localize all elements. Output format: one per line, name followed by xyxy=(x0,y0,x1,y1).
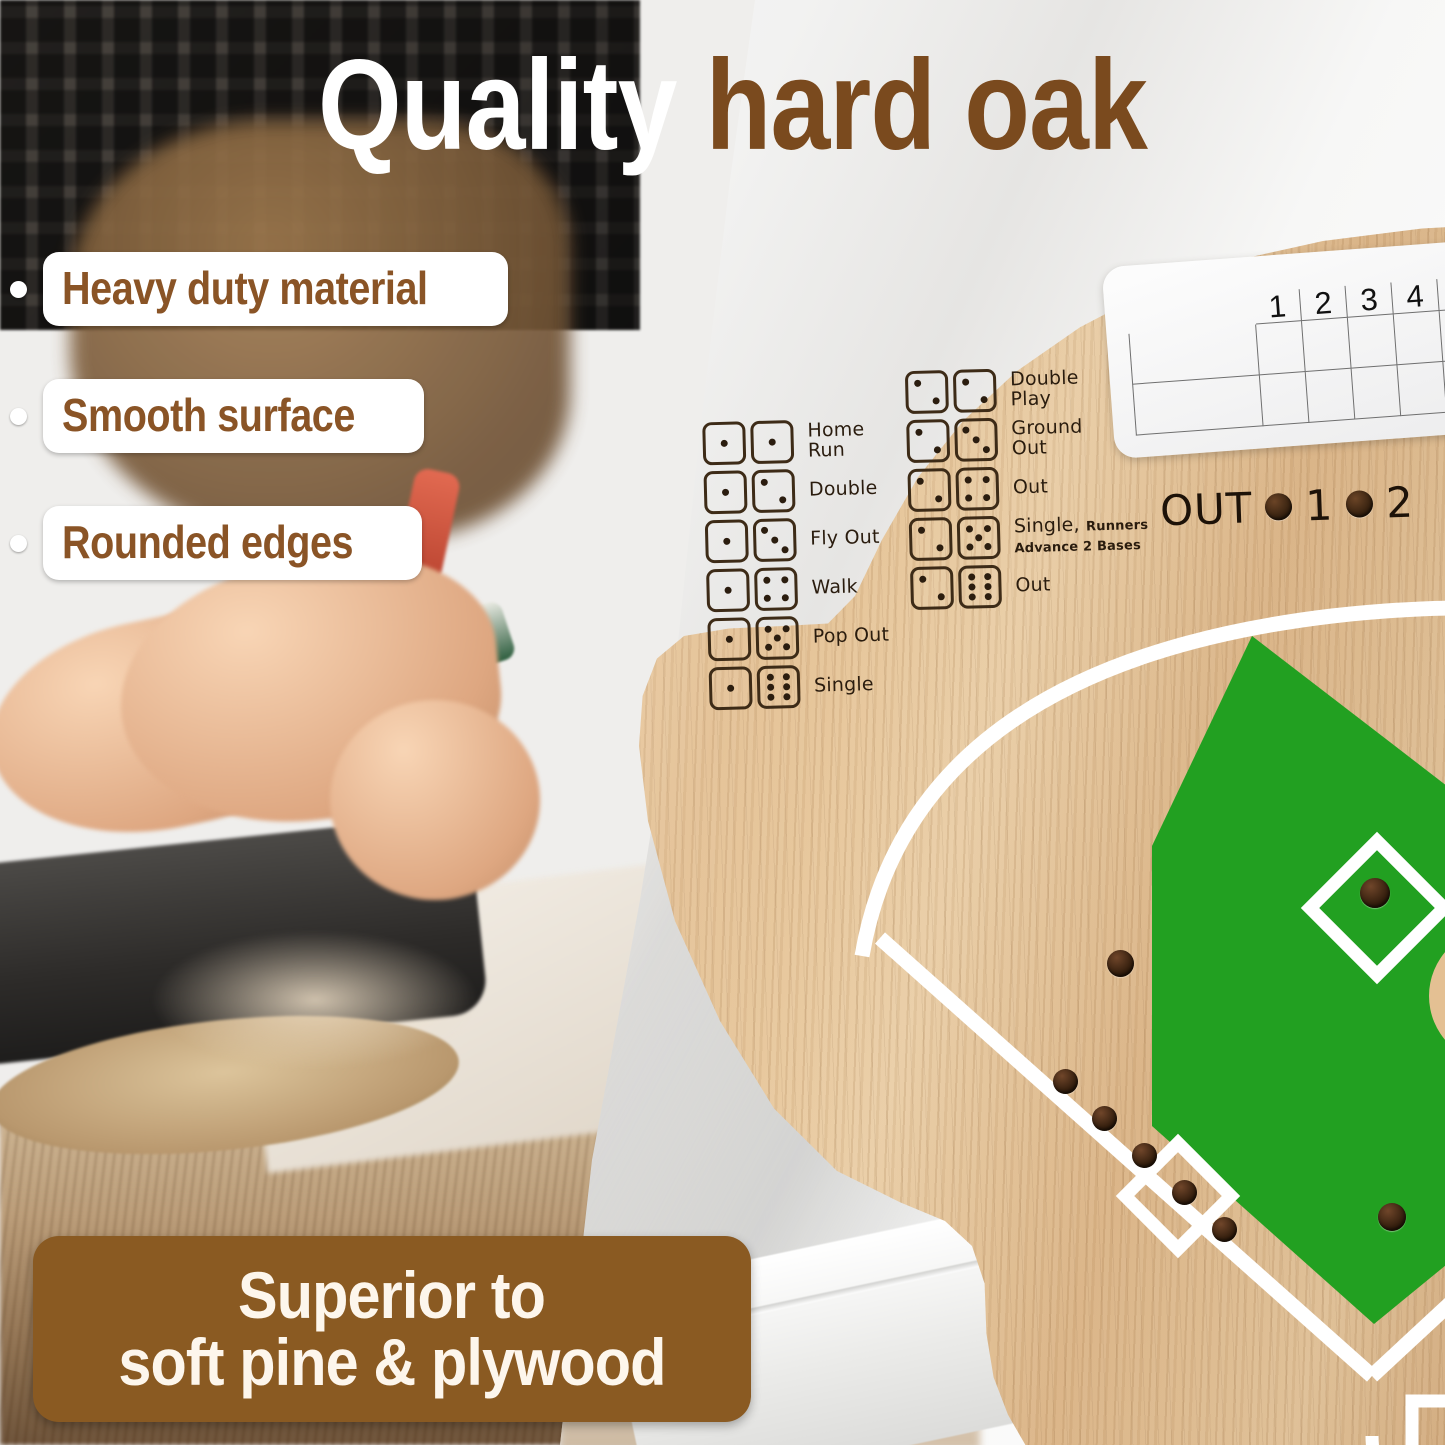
die-face-2 xyxy=(909,517,953,561)
die-pip xyxy=(721,440,728,447)
feature-bullet-pill: Heavy duty material xyxy=(43,252,508,326)
die-face-1 xyxy=(750,420,794,464)
peg-hole-track-5[interactable] xyxy=(1212,1217,1237,1242)
dice-rule-row: Double xyxy=(703,467,885,515)
feature-bullet: Rounded edges xyxy=(10,506,610,580)
scoreboard-score-cell[interactable] xyxy=(1394,311,1444,365)
dice-rule-row: Pop Out xyxy=(707,614,889,662)
die-pip xyxy=(765,643,772,650)
bullet-dot-icon xyxy=(10,281,27,298)
peg-hole-track-4[interactable] xyxy=(1172,1180,1197,1205)
die-pip xyxy=(783,694,790,701)
die-pip xyxy=(932,397,939,404)
die-face-2 xyxy=(907,468,951,512)
die-face-6 xyxy=(958,565,1002,609)
scoreboard-score-cell[interactable] xyxy=(1348,314,1398,368)
die-pip xyxy=(966,494,973,501)
die-pip xyxy=(726,636,733,643)
dice-rule-label: Pop Out xyxy=(813,625,890,646)
dice-rule-label: Out xyxy=(1015,575,1051,595)
bullet-dot-icon xyxy=(10,408,27,425)
die-pip xyxy=(984,573,991,580)
peg-hole-track-3[interactable] xyxy=(1132,1143,1157,1168)
scoreboard-grid: 123456 xyxy=(1126,270,1445,436)
die-pip xyxy=(767,694,774,701)
hand-knob xyxy=(330,700,540,900)
die-face-1 xyxy=(703,470,747,514)
die-face-1 xyxy=(707,617,751,661)
die-face-2 xyxy=(906,419,950,463)
die-face-4 xyxy=(955,467,999,511)
die-pip xyxy=(965,477,972,484)
feature-bullet-label: Heavy duty material xyxy=(62,261,428,315)
die-pip xyxy=(934,446,941,453)
die-pip xyxy=(980,396,987,403)
footer-line-1: Superior to xyxy=(239,1262,546,1329)
die-pip xyxy=(919,576,926,583)
die-pip xyxy=(975,534,982,541)
dice-rule-row: Fly Out xyxy=(705,516,887,564)
die-pip xyxy=(918,527,925,534)
scoreboard-score-cell[interactable] xyxy=(1352,365,1402,419)
dice-rule-row: Single, RunnersAdvance 2 Bases xyxy=(909,512,1149,561)
die-pip xyxy=(968,583,975,590)
die-pip xyxy=(982,476,989,483)
product-marketing-image: HomeRunDoubleFly OutWalkPop OutSingle Do… xyxy=(0,0,1445,1445)
die-pip xyxy=(973,436,980,443)
dice-rule-label: GroundOut xyxy=(1011,417,1083,458)
die-pip xyxy=(781,594,788,601)
scoreboard-whiteboard[interactable]: 123456 xyxy=(1102,237,1445,459)
peg-hole-third-base[interactable] xyxy=(1107,950,1134,977)
die-face-6 xyxy=(757,665,801,709)
feature-bullet-label: Rounded edges xyxy=(62,515,353,569)
die-face-1 xyxy=(705,519,749,563)
scoreboard-score-cell[interactable] xyxy=(1302,318,1352,372)
die-pip xyxy=(781,577,788,584)
scoreboard-score-cell[interactable] xyxy=(1256,321,1306,375)
die-pip xyxy=(722,489,729,496)
peg-hole-track-2[interactable] xyxy=(1092,1106,1117,1131)
sanding-dust xyxy=(150,930,480,1070)
die-pip xyxy=(962,379,969,386)
die-pip xyxy=(781,546,788,553)
out-peg-hole-1[interactable] xyxy=(1265,493,1293,521)
die-pip xyxy=(761,479,768,486)
scoreboard-inning-header: 4 xyxy=(1391,279,1439,314)
feature-bullet-list: Heavy duty materialSmooth surfaceRounded… xyxy=(10,252,610,633)
scoreboard-inning-header: 5 xyxy=(1437,276,1445,311)
dice-rule-label: DoublePlay xyxy=(1010,368,1080,409)
die-pip xyxy=(764,577,771,584)
footer-banner: Superior to soft pine & plywood xyxy=(33,1236,751,1422)
feature-bullet-pill: Smooth surface xyxy=(43,379,424,453)
die-pip xyxy=(774,634,781,641)
dice-rule-label: Single, RunnersAdvance 2 Bases xyxy=(1014,514,1149,557)
die-pip xyxy=(783,673,790,680)
die-face-1 xyxy=(706,568,750,612)
dice-rule-row: GroundOut xyxy=(906,414,1146,463)
die-pip xyxy=(969,594,976,601)
scoreboard-score-cell[interactable] xyxy=(1397,362,1445,416)
die-pip xyxy=(984,542,991,549)
die-pip xyxy=(938,593,945,600)
die-pip xyxy=(935,495,942,502)
die-face-5 xyxy=(755,616,799,660)
die-face-1 xyxy=(702,421,746,465)
dice-rule-row: HomeRun xyxy=(702,418,884,466)
dice-rule-row: Walk xyxy=(706,565,888,613)
scoreboard-team-name-cell[interactable] xyxy=(1128,324,1259,384)
die-face-2 xyxy=(905,370,949,414)
die-pip xyxy=(723,538,730,545)
die-pip xyxy=(985,583,992,590)
die-pip xyxy=(983,525,990,532)
die-pip xyxy=(985,593,992,600)
die-pip xyxy=(764,594,771,601)
die-pip xyxy=(765,626,772,633)
die-pip xyxy=(782,643,789,650)
page-title: Quality hard oak Quality hard oak xyxy=(318,42,1259,182)
die-pip xyxy=(782,626,789,633)
die-pip xyxy=(769,439,776,446)
scoreboard-inning-header: 2 xyxy=(1300,286,1348,321)
dice-rule-label: Single xyxy=(814,675,874,696)
scoreboard-score-cell[interactable] xyxy=(1306,369,1356,423)
peg-hole-track-1[interactable] xyxy=(1053,1069,1078,1094)
dice-rule-label: HomeRun xyxy=(807,420,865,461)
die-face-3 xyxy=(954,418,998,462)
dice-rule-row: Single xyxy=(709,663,891,711)
die-pip xyxy=(963,427,970,434)
die-face-2 xyxy=(751,469,795,513)
peg-hole-second-base[interactable] xyxy=(1360,878,1390,908)
die-pip xyxy=(915,429,922,436)
die-pip xyxy=(917,478,924,485)
die-pip xyxy=(771,536,778,543)
peg-hole-home-plate[interactable] xyxy=(1378,1203,1406,1231)
dice-rule-label: Walk xyxy=(811,577,858,598)
die-face-2 xyxy=(953,369,997,413)
die-pip xyxy=(966,526,973,533)
feature-bullet: Heavy duty material xyxy=(10,252,610,326)
die-pip xyxy=(968,573,975,580)
feature-bullet: Smooth surface xyxy=(10,379,610,453)
die-pip xyxy=(761,527,768,534)
scoreboard-team-name-cell[interactable] xyxy=(1132,375,1263,435)
footer-line-2: soft pine & plywood xyxy=(118,1329,665,1396)
die-pip xyxy=(727,685,734,692)
scoreboard-inning-header: 1 xyxy=(1254,289,1302,324)
die-face-4 xyxy=(754,567,798,611)
die-pip xyxy=(936,544,943,551)
dice-rule-row: Out xyxy=(910,561,1150,610)
out-label: OUT xyxy=(1159,483,1253,535)
die-face-3 xyxy=(753,518,797,562)
scoreboard-inning-header: 3 xyxy=(1346,282,1394,317)
die-pip xyxy=(767,673,774,680)
die-pip xyxy=(914,380,921,387)
die-face-1 xyxy=(709,666,753,710)
die-pip xyxy=(767,684,774,691)
dice-rule-row: Out xyxy=(907,463,1147,512)
feature-bullet-label: Smooth surface xyxy=(62,388,355,442)
dice-rule-label: Out xyxy=(1013,477,1049,497)
bullet-dot-icon xyxy=(10,535,27,552)
die-face-5 xyxy=(957,516,1001,560)
out-mark-1: 1 xyxy=(1305,480,1334,530)
die-pip xyxy=(724,587,731,594)
out-mark-2: 2 xyxy=(1385,478,1414,528)
out-counter: OUT 1 2 xyxy=(1159,478,1414,536)
scoreboard-score-cell[interactable] xyxy=(1260,372,1310,426)
die-pip xyxy=(982,446,989,453)
die-pip xyxy=(967,543,974,550)
dice-rule-label: Fly Out xyxy=(810,528,880,549)
feature-bullet-pill: Rounded edges xyxy=(43,506,422,580)
die-pip xyxy=(983,493,990,500)
die-pip xyxy=(783,683,790,690)
die-pip xyxy=(779,496,786,503)
dice-rule-label: Double xyxy=(809,479,878,500)
die-face-2 xyxy=(910,566,954,610)
out-peg-hole-2[interactable] xyxy=(1346,490,1374,518)
dice-chart-left: HomeRunDoubleFly OutWalkPop OutSingle xyxy=(702,418,891,717)
